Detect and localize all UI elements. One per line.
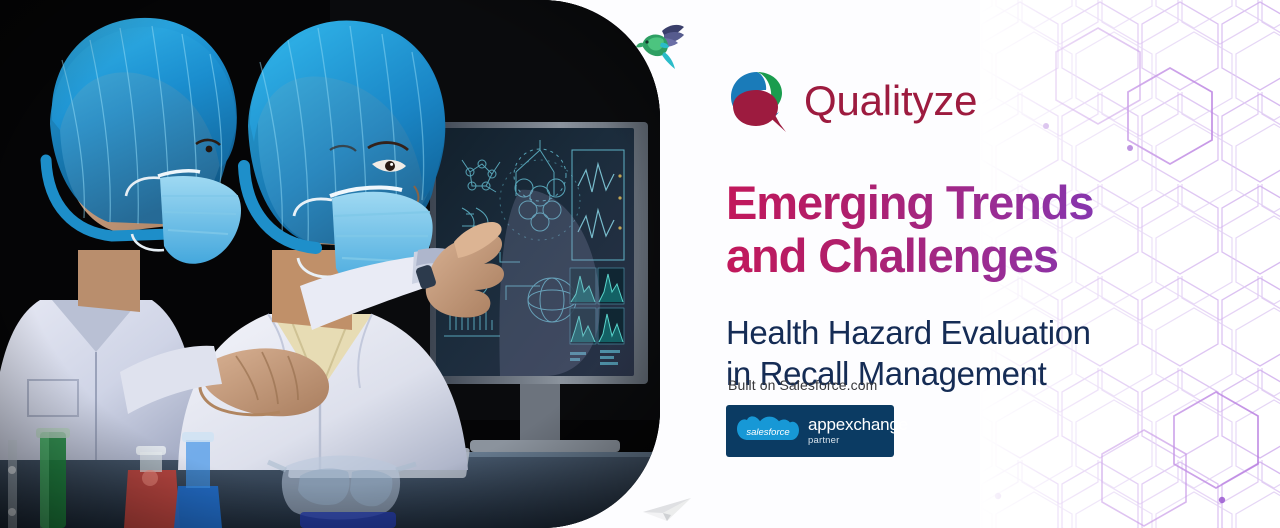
appexchange-partner-badge[interactable]: salesforce appexchange partner [726, 405, 894, 457]
badge-title: appexchange [808, 416, 908, 433]
headline-line-2: and Challenges [726, 230, 1246, 283]
salesforce-cloud-icon: salesforce [736, 412, 800, 450]
qualityze-q-logo-icon [726, 68, 790, 134]
hero-photo-image [0, 0, 660, 528]
brand-name: Qualityze [804, 80, 977, 122]
headline-line-1: Emerging Trends [726, 176, 1093, 229]
badge-subtitle: partner [808, 436, 908, 446]
built-on-label: Built on Salesforce.com [728, 377, 877, 393]
page-title: Emerging Trends and Challenges [726, 177, 1246, 282]
badge-text-block: appexchange partner [808, 416, 908, 446]
brand-logo[interactable]: Qualityze [726, 68, 977, 134]
svg-text:salesforce: salesforce [746, 427, 789, 438]
marketing-banner: Qualityze Emerging Trends and Challenges… [0, 0, 1280, 528]
hummingbird-icon [634, 21, 688, 73]
content-panel: Qualityze Emerging Trends and Challenges… [726, 0, 1266, 528]
hero-photo [0, 0, 660, 528]
paper-plane-icon [641, 495, 693, 523]
subhead-line-1: Health Hazard Evaluation [726, 314, 1091, 351]
